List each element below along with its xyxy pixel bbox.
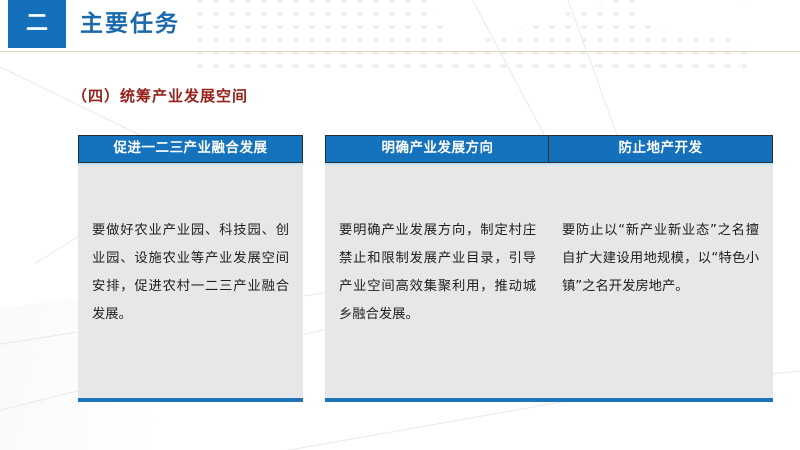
card-group: 促进一二三产业融合发展 要做好农业产业园、科技园、创业园、设施农业等产业发展空间… — [78, 135, 764, 403]
card-body-text: 要明确产业发展方向，制定村庄禁止和限制发展产业目录，引导产业空间高效集聚利用，推… — [339, 217, 536, 329]
card-body: 要明确产业发展方向，制定村庄禁止和限制发展产业目录，引导产业空间高效集聚利用，推… — [325, 165, 550, 402]
halftone-dot-pattern — [195, 0, 755, 74]
card-body-text: 要防止以“新产业新业态”之名擅自扩大建设用地规模，以“特色小镇”之名开发房地产。 — [562, 217, 759, 301]
card-header: 明确产业发展方向 — [325, 135, 550, 163]
card-heading-label: 明确产业发展方向 — [382, 142, 494, 156]
presentation-slide: 二 主要任务 （四）统筹产业发展空间 促进一二三产业融合发展 要做好农业产业园、… — [0, 0, 800, 450]
card-header: 促进一二三产业融合发展 — [78, 135, 303, 163]
card-body: 要做好农业产业园、科技园、创业园、设施农业等产业发展空间安排，促进农村一二三产业… — [78, 165, 303, 402]
content-card: 防止地产开发 要防止以“新产业新业态”之名擅自扩大建设用地规模，以“特色小镇”之… — [548, 135, 773, 403]
card-bottom-accent-bar — [78, 398, 303, 402]
section-number-label: 二 — [26, 13, 48, 35]
section-number-badge: 二 — [8, 0, 66, 48]
dot-pattern-mask — [430, 0, 649, 51]
section-subtitle: （四）统筹产业发展空间 — [72, 85, 248, 106]
content-card: 促进一二三产业融合发展 要做好农业产业园、科技园、创业园、设施农业等产业发展空间… — [78, 135, 303, 403]
card-body: 要防止以“新产业新业态”之名擅自扩大建设用地规模，以“特色小镇”之名开发房地产。 — [548, 165, 773, 402]
card-heading-label: 防止地产开发 — [619, 142, 703, 156]
card-body-text: 要做好农业产业园、科技园、创业园、设施农业等产业发展空间安排，促进农村一二三产业… — [92, 217, 289, 329]
card-bottom-accent-bar — [325, 398, 550, 402]
page-title: 主要任务 — [80, 7, 180, 41]
card-header: 防止地产开发 — [548, 135, 773, 163]
content-card: 明确产业发展方向 要明确产业发展方向，制定村庄禁止和限制发展产业目录，引导产业空… — [325, 135, 550, 403]
card-bottom-accent-bar — [548, 398, 773, 402]
card-heading-label: 促进一二三产业融合发展 — [114, 142, 268, 156]
header-divider-line — [0, 51, 800, 52]
dot-pattern-mask-right — [634, 0, 800, 55]
